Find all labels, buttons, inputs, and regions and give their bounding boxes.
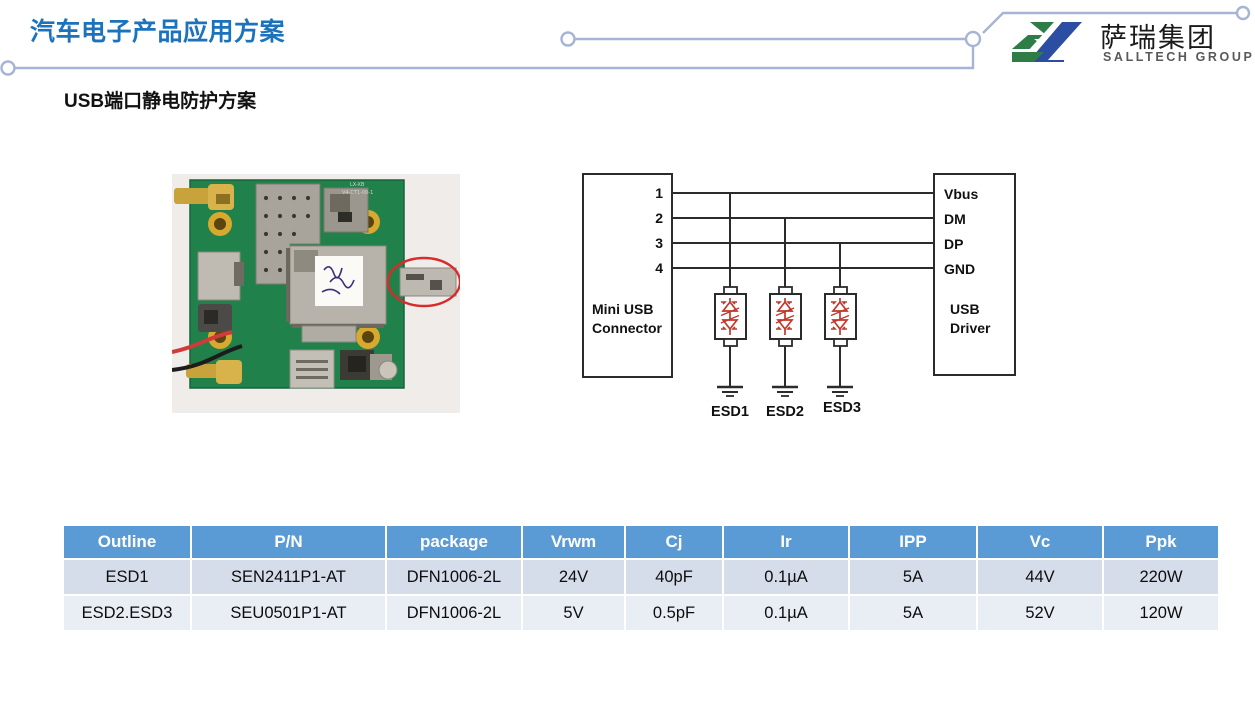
esd-label-2: ESD2 [766, 404, 804, 418]
logo-name-en: SALLTECH GROUP [1103, 50, 1254, 64]
table-row: ESD2.ESD3 SEU0501P1-AT DFN1006-2L 5V 0.5… [64, 596, 1218, 630]
pin-label-1: 1 [655, 185, 663, 201]
cell-vrwm: 24V [523, 560, 624, 594]
col-header-ipp: IPP [850, 526, 976, 558]
spec-table: Outline P/N package Vrwm Cj Ir IPP Vc Pp… [62, 524, 1220, 632]
esd-device-symbols [715, 287, 856, 346]
col-header-vrwm: Vrwm [523, 526, 624, 558]
slide-root: 汽车电子产品应用方案 USB端口静电防护方案 萨瑞集团 SALLTECH GRO… [0, 0, 1255, 706]
cell-cj: 0.5pF [626, 596, 722, 630]
esd-label-3: ESD3 [823, 400, 861, 416]
cell-outline: ESD2.ESD3 [64, 596, 190, 630]
cell-package: DFN1006-2L [387, 560, 521, 594]
driver-label-line1: USB [950, 301, 980, 317]
brand-logo: 萨瑞集团 SALLTECH GROUP [1008, 16, 1248, 70]
cell-vc: 52V [978, 596, 1102, 630]
page-title: 汽车电子产品应用方案 [30, 12, 285, 48]
driver-label-line2: Driver [950, 320, 991, 336]
pin-label-2: 2 [655, 210, 663, 226]
cell-outline: ESD1 [64, 560, 190, 594]
esd-label-1: ESD1 [711, 404, 749, 418]
pcb-photo: LX-XB V4-CT1-00-1 [172, 174, 460, 413]
svg-text:V4-CT1-00-1: V4-CT1-00-1 [342, 190, 373, 196]
ground-symbols [717, 387, 853, 396]
col-header-cj: Cj [626, 526, 722, 558]
col-header-ir: Ir [724, 526, 848, 558]
pin-label-4: 4 [655, 260, 663, 276]
signal-label-dp: DP [944, 236, 963, 252]
col-header-outline: Outline [64, 526, 190, 558]
cell-vc: 44V [978, 560, 1102, 594]
salltech-logo-icon [1008, 18, 1096, 66]
pin-label-3: 3 [655, 235, 663, 251]
section-subtitle: USB端口静电防护方案 [64, 86, 256, 113]
cell-ppk: 120W [1104, 596, 1218, 630]
signal-label-gnd: GND [944, 261, 975, 277]
connector-label-line2: Connector [592, 320, 663, 336]
connector-label-line1: Mini USB [592, 301, 653, 317]
cell-pn: SEU0501P1-AT [192, 596, 385, 630]
cell-ipp: 5A [850, 560, 976, 594]
cell-cj: 40pF [626, 560, 722, 594]
usb-esd-schematic: 1 2 3 4 Vbus DM DP GND Mini USB Connecto… [575, 168, 1035, 418]
signal-label-dm: DM [944, 211, 966, 227]
col-header-package: package [387, 526, 521, 558]
cell-vrwm: 5V [523, 596, 624, 630]
cell-ir: 0.1µA [724, 596, 848, 630]
col-header-vc: Vc [978, 526, 1102, 558]
cell-pn: SEN2411P1-AT [192, 560, 385, 594]
table-row: ESD1 SEN2411P1-AT DFN1006-2L 24V 40pF 0.… [64, 560, 1218, 594]
cell-ppk: 220W [1104, 560, 1218, 594]
signal-label-vbus: Vbus [944, 186, 978, 202]
col-header-pn: P/N [192, 526, 385, 558]
table-header-row: Outline P/N package Vrwm Cj Ir IPP Vc Pp… [64, 526, 1218, 558]
cell-ir: 0.1µA [724, 560, 848, 594]
cell-package: DFN1006-2L [387, 596, 521, 630]
svg-text:LX-XB: LX-XB [350, 182, 365, 188]
col-header-ppk: Ppk [1104, 526, 1218, 558]
cell-ipp: 5A [850, 596, 976, 630]
